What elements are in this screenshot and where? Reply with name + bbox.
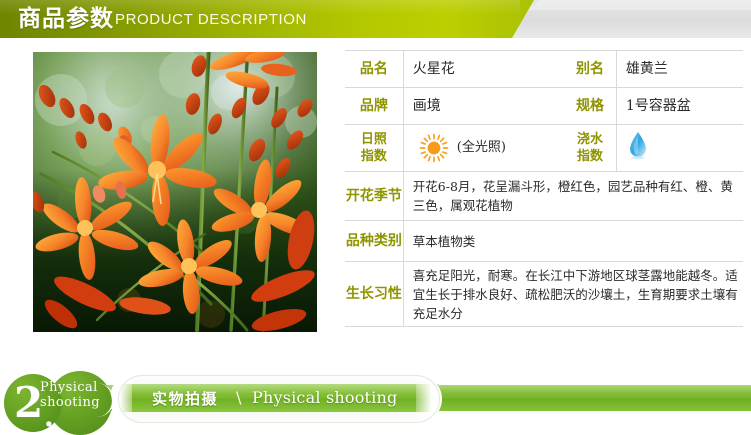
spec-label-bieming: 别名 [564, 51, 616, 88]
section-badge-text-line1: Physical [40, 380, 98, 395]
table-row: 开花季节 开花6-8月，花呈漏斗形，橙红色，园艺品种有红、橙、黄三色，属观花植物 [345, 172, 743, 221]
spec-label-pinming: 品名 [345, 51, 403, 88]
section-badge-text-line2: shooting [40, 395, 100, 410]
page-title-cn: 商品参数 [18, 3, 114, 35]
water-drop-icon [626, 130, 650, 160]
spec-label-pinpai: 品牌 [345, 88, 403, 125]
spec-value-category: 草本植物类 [403, 221, 743, 262]
spec-label-growth-habit: 生长习性 [345, 262, 403, 327]
table-row: 品牌 画境 规格 1号容器盆 [345, 88, 743, 125]
spec-value-guige: 1号容器盆 [616, 88, 743, 125]
header-underline [0, 38, 751, 42]
section-title-separator: \ [236, 389, 241, 407]
sun-icon [419, 133, 449, 163]
spec-value-pinming: 火星花 [403, 51, 564, 88]
page-header: 商品参数 PRODUCT DESCRIPTION [0, 0, 751, 42]
product-photo-image [33, 52, 317, 332]
section-badge-number: 2 [14, 382, 43, 424]
spec-label-watering-line2: 指数 [564, 148, 616, 165]
section-title-cn: 实物拍摄 [152, 390, 218, 408]
spec-value-growth-habit: 喜充足阳光，耐寒。在长江中下游地区球茎露地能越冬。适宜生长于排水良好、疏松肥沃的… [403, 262, 743, 327]
spec-label-watering-line1: 浇水 [564, 131, 616, 148]
spec-value-sunlight: (全光照) [403, 125, 564, 172]
table-row: 品名 火星花 别名 雄黄兰 [345, 51, 743, 88]
spec-value-sunlight-note: (全光照) [457, 138, 506, 158]
spec-value-bieming: 雄黄兰 [616, 51, 743, 88]
page-title-en: PRODUCT DESCRIPTION [115, 11, 307, 29]
section-glass-pill-right-cap [416, 375, 442, 423]
spec-value-watering [616, 125, 743, 172]
spec-label-watering: 浇水 指数 [564, 125, 616, 172]
spec-label-sunlight-line1: 日照 [345, 131, 403, 148]
product-photo [33, 52, 317, 332]
table-row-icons: 日照 指数 [345, 125, 743, 172]
spec-label-sunlight: 日照 指数 [345, 125, 403, 172]
spec-label-sunlight-line2: 指数 [345, 148, 403, 165]
spec-label-category: 品种类别 [345, 221, 403, 262]
spec-value-pinpai: 画境 [403, 88, 564, 125]
section-title-en: Physical shooting [252, 389, 397, 407]
table-row: 品种类别 草本植物类 [345, 221, 743, 262]
product-description-page: 商品参数 PRODUCT DESCRIPTION [0, 0, 751, 435]
specifications-table: 品名 火星花 别名 雄黄兰 品牌 画境 规格 1号容器盆 日照 指数 [345, 50, 743, 327]
spec-value-bloom-season: 开花6-8月，花呈漏斗形，橙红色，园艺品种有红、橙、黄三色，属观花植物 [403, 172, 743, 221]
section-physical-shooting: 实物拍摄 \ Physical shooting 2 . Physical sh… [0, 371, 751, 435]
spec-label-bloom-season: 开花季节 [345, 172, 403, 221]
section-badge-number-dot: . [44, 407, 54, 427]
table-row: 生长习性 喜充足阳光，耐寒。在长江中下游地区球茎露地能越冬。适宜生长于排水良好、… [345, 262, 743, 327]
spec-label-guige: 规格 [564, 88, 616, 125]
